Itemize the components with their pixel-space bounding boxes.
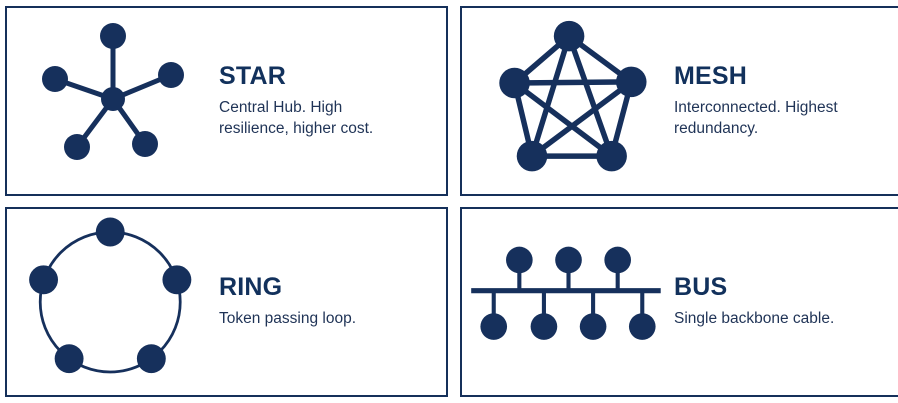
- mesh-description: Interconnected. Highest redundancy.: [674, 98, 859, 139]
- bus-node-bottom-1: [480, 313, 507, 340]
- bus-node-bottom-2: [531, 313, 558, 340]
- ring-figure-svg: [13, 212, 213, 392]
- topology-grid: STAR Central Hub. High resilience, highe…: [0, 0, 898, 403]
- mesh-diagram: [462, 8, 674, 194]
- mesh-node-bottom-right: [596, 141, 627, 172]
- mesh-node-top: [554, 21, 585, 52]
- bus-title: BUS: [674, 274, 887, 300]
- star-figure-svg: [13, 11, 213, 191]
- mesh-node-left: [499, 68, 530, 99]
- star-title: STAR: [219, 63, 432, 89]
- topology-card-star: STAR Central Hub. High resilience, highe…: [5, 6, 448, 196]
- bus-node-bottom-4: [629, 313, 656, 340]
- mesh-text-block: MESH Interconnected. Highest redundancy.: [674, 63, 898, 139]
- bus-text-block: BUS Single backbone cable.: [674, 274, 898, 330]
- ring-title: RING: [219, 274, 432, 300]
- mesh-node-bottom-left: [517, 141, 548, 172]
- star-description: Central Hub. High resilience, higher cos…: [219, 98, 394, 139]
- ring-node-top: [96, 218, 125, 247]
- bus-figure-svg: [463, 212, 673, 392]
- topology-card-mesh: MESH Interconnected. Highest redundancy.: [460, 6, 898, 196]
- star-diagram: [7, 8, 219, 194]
- bus-node-top-3: [604, 247, 631, 274]
- mesh-title: MESH: [674, 63, 887, 89]
- ring-description: Token passing loop.: [219, 309, 429, 330]
- bus-node-bottom-3: [580, 313, 607, 340]
- bus-node-top-2: [555, 247, 582, 274]
- star-node-left: [42, 66, 68, 92]
- star-node-top: [100, 23, 126, 49]
- star-node-right: [158, 62, 184, 88]
- ring-node-bottom-right: [137, 344, 166, 373]
- ring-node-left: [29, 265, 58, 294]
- ring-diagram: [7, 209, 219, 395]
- star-node-bottom-left: [64, 134, 90, 160]
- topology-card-ring: RING Token passing loop.: [5, 207, 448, 397]
- ring-node-bottom-left: [55, 344, 84, 373]
- bus-diagram: [462, 209, 674, 395]
- star-node-hub: [101, 87, 125, 111]
- star-node-bottom-right: [132, 131, 158, 157]
- ring-node-right: [162, 265, 191, 294]
- star-nodes: [42, 23, 184, 160]
- mesh-figure-svg: [468, 11, 668, 191]
- star-text-block: STAR Central Hub. High resilience, highe…: [219, 63, 446, 139]
- bus-node-top-1: [506, 247, 533, 274]
- mesh-edges: [515, 36, 632, 156]
- mesh-nodes: [499, 21, 646, 172]
- bus-description: Single backbone cable.: [674, 309, 859, 330]
- ring-nodes: [29, 218, 191, 374]
- topology-card-bus: BUS Single backbone cable.: [460, 207, 898, 397]
- ring-text-block: RING Token passing loop.: [219, 274, 446, 330]
- mesh-node-right: [616, 67, 647, 98]
